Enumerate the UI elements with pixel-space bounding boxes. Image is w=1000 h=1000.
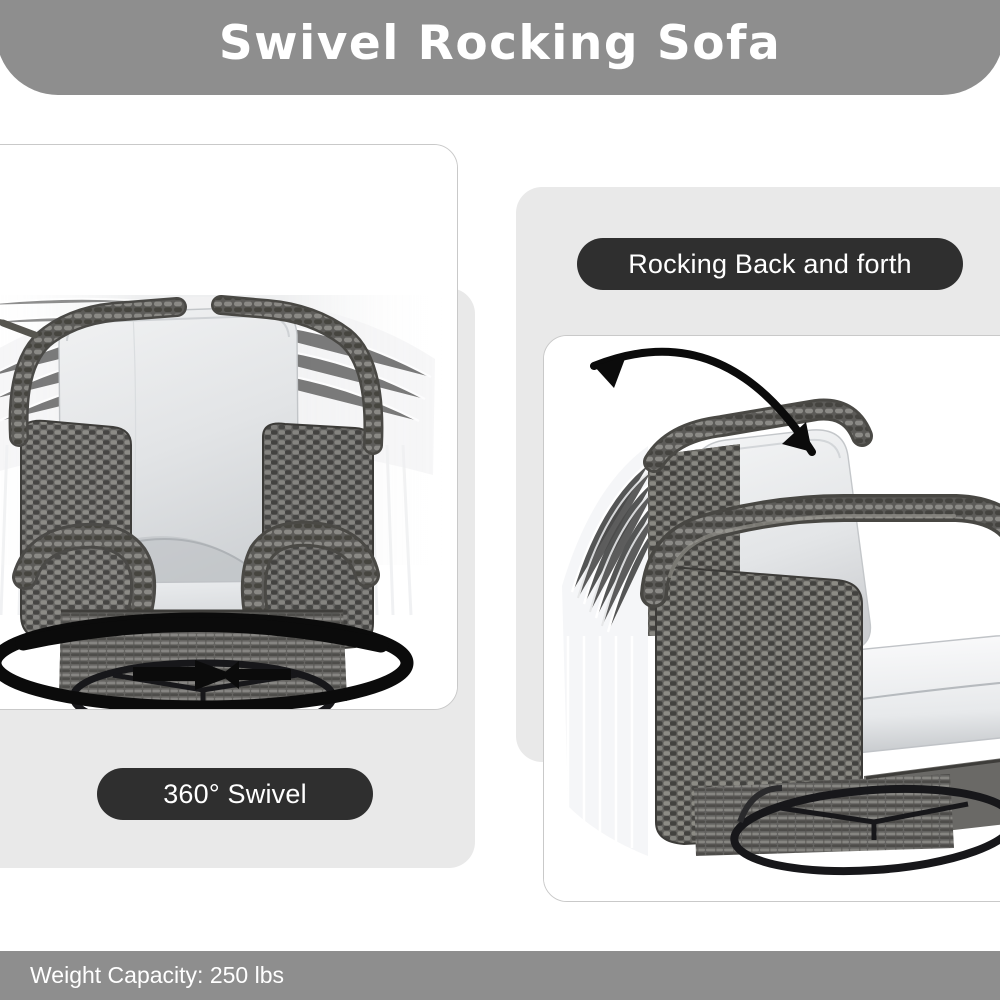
header-bar: Swivel Rocking Sofa xyxy=(0,0,1000,95)
rocking-chair-illustration xyxy=(544,336,1000,901)
page-title: Swivel Rocking Sofa xyxy=(219,20,781,71)
rocking-caption-pill: Rocking Back and forth xyxy=(577,238,963,290)
rocking-caption-label: Rocking Back and forth xyxy=(628,249,912,280)
left-product-card xyxy=(0,144,458,710)
right-product-card xyxy=(543,335,1000,902)
infographic-page: Swivel Rocking Sofa xyxy=(0,0,1000,1000)
footer-bar: Weight Capacity: 250 lbs xyxy=(0,951,1000,1000)
swivel-caption-pill: 360° Swivel xyxy=(97,768,373,820)
weight-capacity-label: Weight Capacity: 250 lbs xyxy=(0,962,284,989)
swivel-caption-label: 360° Swivel xyxy=(163,779,307,810)
swivel-chair-illustration xyxy=(0,145,457,709)
